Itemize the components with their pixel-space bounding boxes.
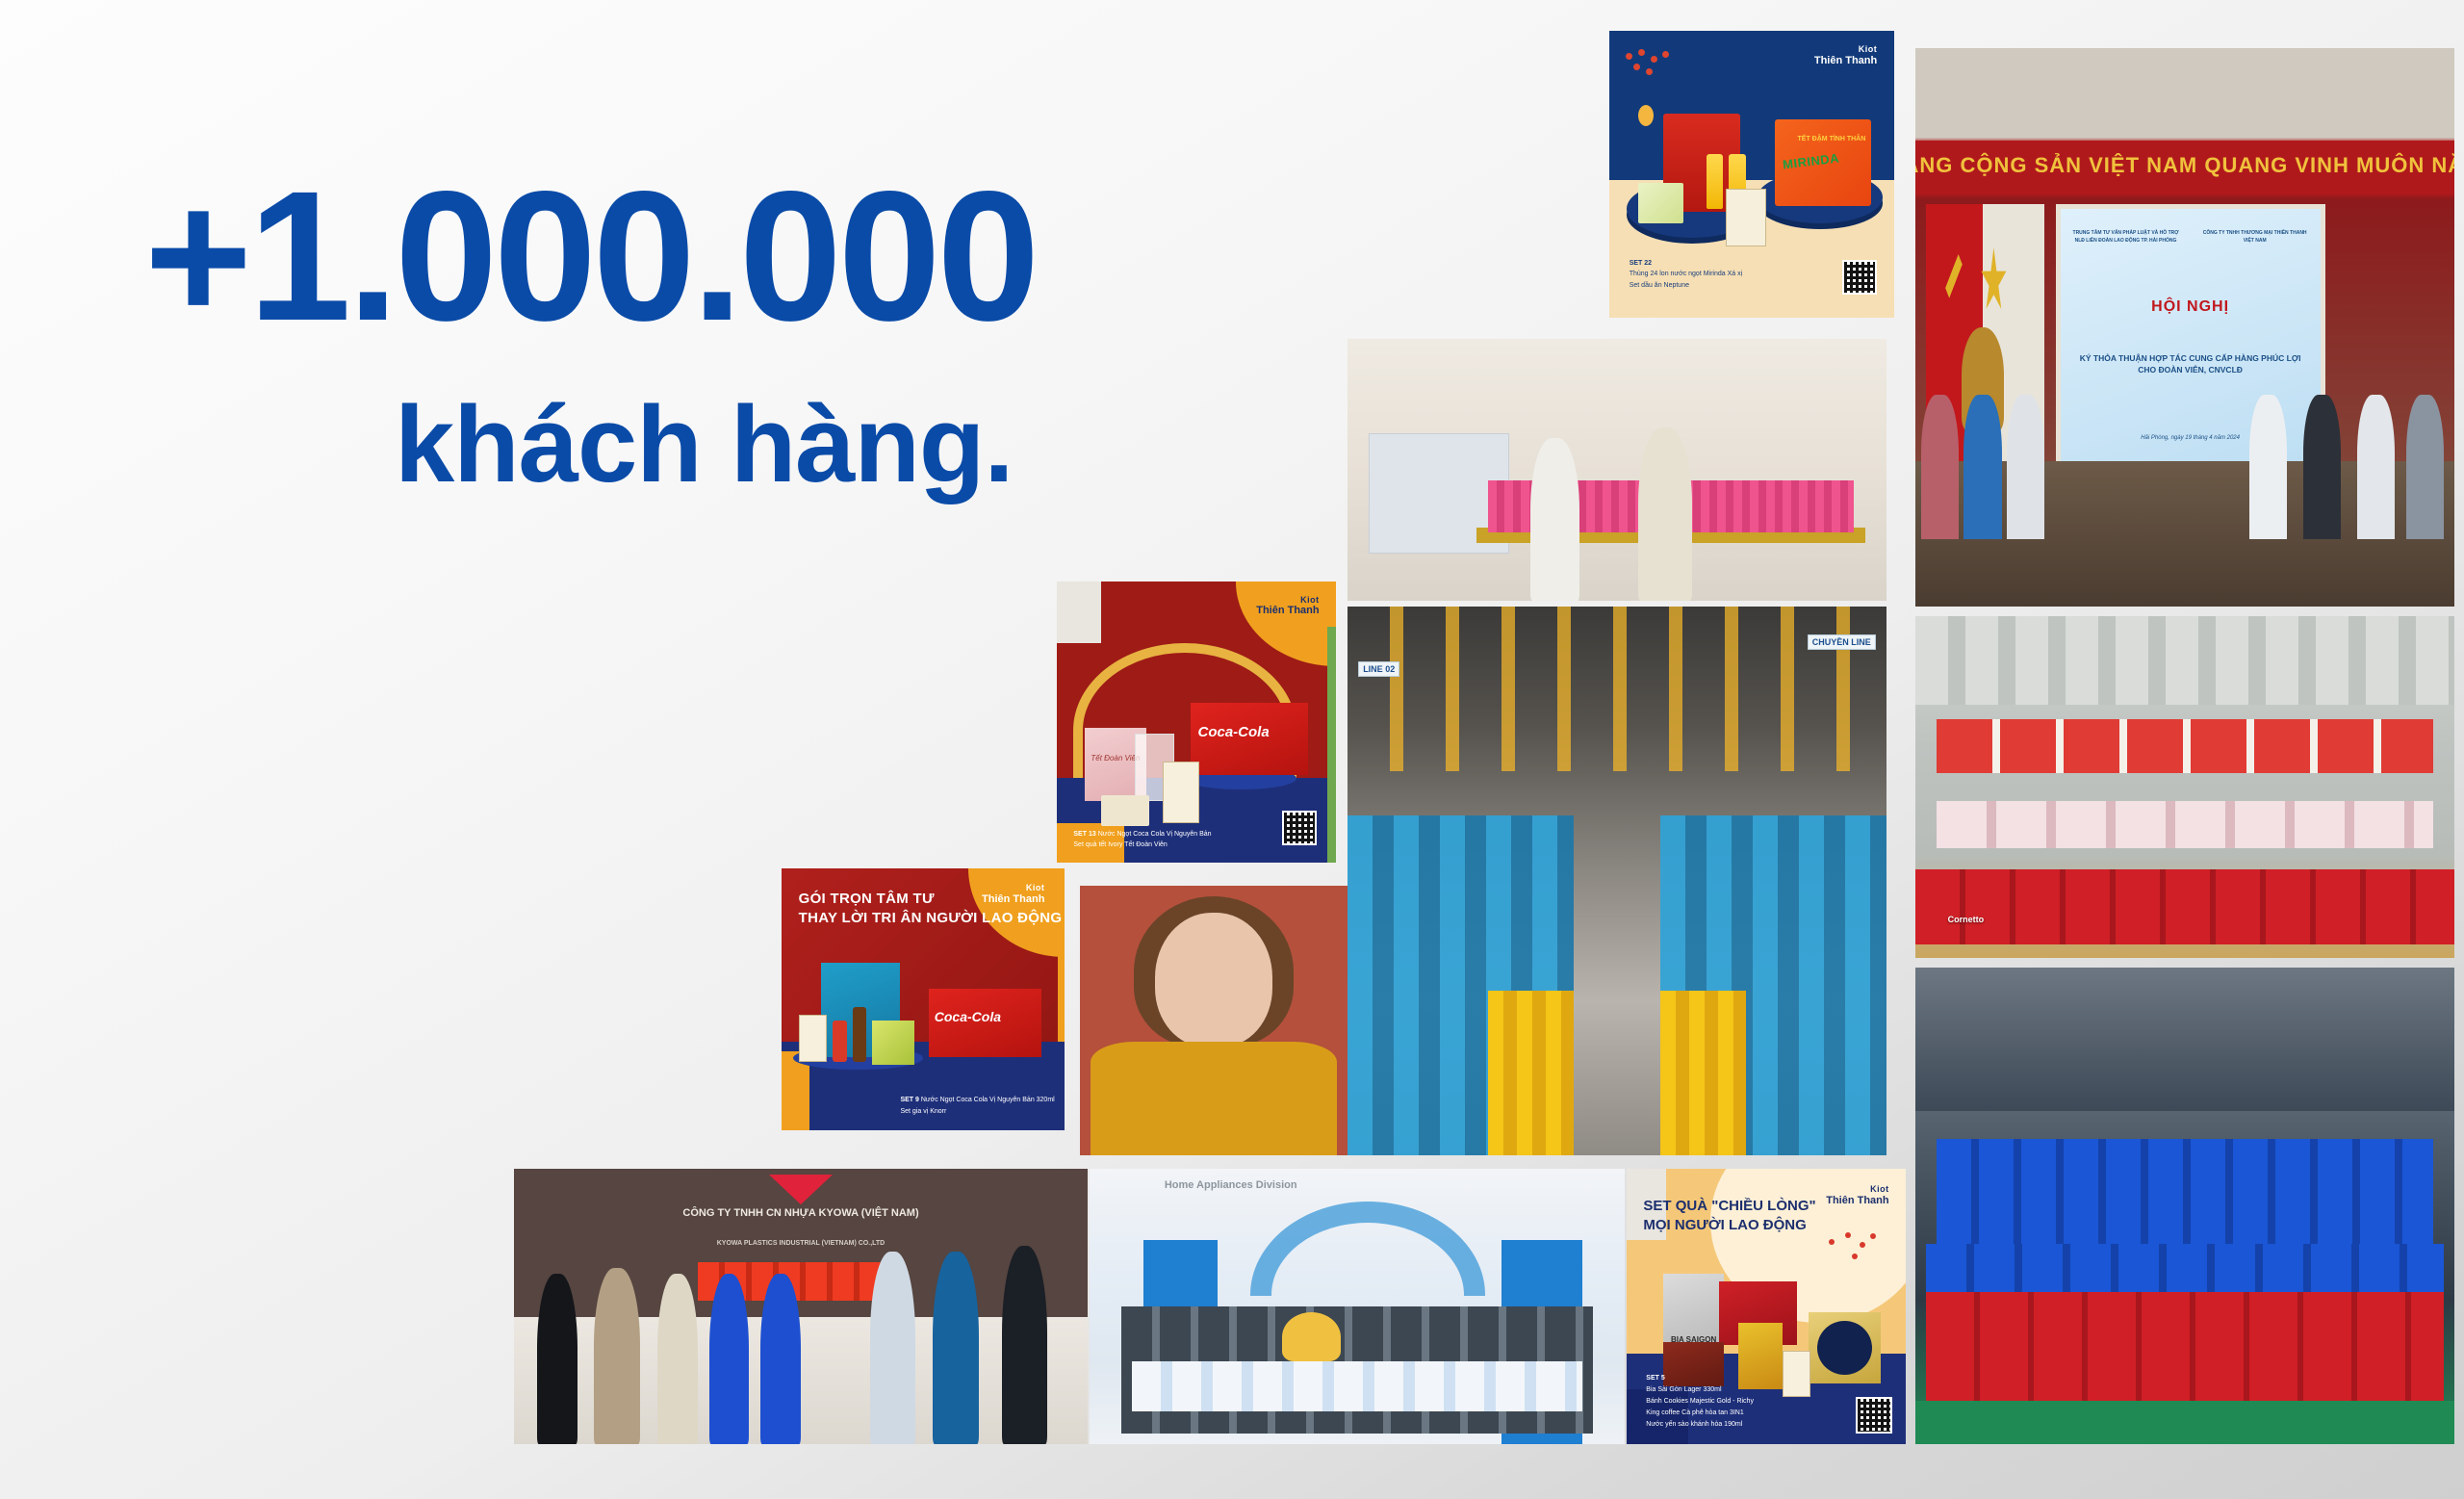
blossom-decor-icon [1822, 1229, 1889, 1279]
held-product-boxes [1937, 719, 2432, 774]
photo-balloon-event[interactable]: Home Appliances Division CHÚC MỪNG NGÀY … [1090, 1169, 1625, 1444]
gift-card-graphic [799, 1015, 827, 1062]
face [1155, 913, 1272, 1047]
poster-goi-tron-tam-tu[interactable]: GÓI TRỌN TÂM TƯ THAY LỜI TRI ÂN NGƯỜI LA… [782, 868, 1065, 1130]
star-icon [1981, 247, 2007, 315]
qr-code-icon[interactable] [1282, 811, 1317, 845]
person [657, 1274, 698, 1444]
photo-collage: MIRINDA TẾT ĐẬM TÌNH THÂN Kiot Thiên Tha… [0, 0, 2464, 1499]
poster-cocacola[interactable]: Coca-Cola Tết Đoàn Viên Kiot Thiên Thanh… [1057, 582, 1336, 863]
product-box-label: MIRINDA [1782, 151, 1839, 172]
poster-caption: SET 22 Thùng 24 lon nước ngọt Mirinda Xá… [1630, 258, 1742, 293]
poster-title: SET QUÀ "CHIỀU LÒNG" MỌI NGƯỜI LAO ĐỘNG [1643, 1197, 1815, 1236]
product-box-slogan: TẾT ĐẬM TÌNH THÂN [1798, 135, 1866, 145]
sauce-bottle-graphic [853, 1007, 867, 1062]
person [933, 1252, 979, 1444]
line-sign-left: LINE 02 [1358, 661, 1399, 677]
photo-conference[interactable]: ĐẢNG CỘNG SẢN VIỆT NAM QUANG VINH MUÔN N… [1915, 48, 2454, 607]
bag-brand-label: Cornetto [1948, 915, 1985, 924]
person [537, 1274, 577, 1444]
poster-corner-accent [1236, 582, 1336, 666]
yellow-coat [1091, 1042, 1337, 1155]
photo-office-gift[interactable] [1347, 339, 1886, 601]
flower-bouquet [1282, 1312, 1341, 1361]
red-tet-gift-bags [1926, 1292, 2444, 1407]
wall-banner: ĐẢNG CỘNG SẢN VIỆT NAM QUANG VINH MUÔN N… [1915, 141, 2454, 191]
person [760, 1274, 801, 1444]
photo-model-yellow-coat[interactable] [1080, 886, 1347, 1155]
food-pack-graphic [1638, 183, 1683, 223]
company-sign-line1: CÔNG TY TNHH CN NHỰA KYOWA (VIỆT NAM) [629, 1207, 973, 1219]
blossom-decor-icon [1624, 48, 1686, 94]
hammer-sickle-icon [1942, 247, 1968, 315]
photo-kyowa[interactable]: CÔNG TY TNHH CN NHỰA KYOWA (VIỆT NAM) KY… [514, 1169, 1088, 1444]
line-sign-right: CHUYỀN LINE [1808, 634, 1876, 650]
photo-cornetto-workers[interactable]: Cornetto [1915, 616, 2454, 958]
poster-mirinda[interactable]: MIRINDA TẾT ĐẬM TÌNH THÂN Kiot Thiên Tha… [1609, 31, 1894, 318]
brand-logo: Kiot Thiên Thanh [1826, 1185, 1888, 1206]
poster-side-strip [1327, 627, 1336, 863]
brand-logo: Kiot Thiên Thanh [1256, 596, 1319, 617]
product-box-label: Coca-Cola [1198, 724, 1270, 740]
factory-ceiling [1915, 968, 2454, 1111]
factory-floor [1915, 1401, 2454, 1444]
product-box-graphic: Coca-Cola [929, 989, 1042, 1057]
brand-logo: Kiot Thiên Thanh [982, 884, 1044, 905]
poster-caption: SET 9 Nước Ngọt Coca Cola Vị Nguyên Bản … [900, 1095, 1054, 1118]
poster-corner [1057, 582, 1101, 643]
yellow-gift-bags-right [1660, 991, 1747, 1155]
red-gift-bags-row [1915, 869, 2454, 944]
product-box-graphic: MIRINDA TẾT ĐẬM TÌNH THÂN [1775, 119, 1872, 205]
person [709, 1274, 750, 1444]
held-product-packs [1937, 801, 2432, 849]
company-sign-line2: KYOWA PLASTICS INDUSTRIAL (VIETNAM) CO.,… [629, 1240, 973, 1247]
poster-caption: SET 13 Nước Ngọt Coca Cola Vị Nguyên Bản… [1073, 829, 1211, 852]
gift-card-graphic [1163, 762, 1199, 823]
qr-code-icon[interactable] [1842, 260, 1877, 295]
sauce-bottle-graphic [833, 1021, 847, 1063]
photo-blue-uniform-workers[interactable] [1915, 968, 2454, 1444]
poster-caption: SET 5 Bia Sài Gòn Lager 330ml Bánh Cooki… [1646, 1373, 1754, 1430]
product-box-graphic: Coca-Cola [1191, 703, 1308, 776]
brand-logo: Kiot Thiên Thanh [1814, 45, 1877, 66]
qr-code-icon[interactable] [1856, 1397, 1892, 1434]
bottle-graphic [1707, 154, 1724, 209]
tin-box-graphic [1101, 795, 1148, 826]
person [1638, 427, 1692, 601]
person [1002, 1246, 1048, 1444]
balloon-arch [1250, 1202, 1486, 1295]
lantern-icon [1638, 105, 1654, 126]
product-box-label: Coca-Cola [935, 1009, 1001, 1024]
screen-subtitle: KÝ THỎA THUẬN HỢP TÁC CUNG CẤP HÀNG PHÚC… [2070, 352, 2309, 376]
white-gift-bags-row [1132, 1361, 1581, 1410]
cookie-tin-graphic [1809, 1312, 1881, 1383]
poster-set-qua-chieu-long[interactable]: SET QUÀ "CHIỀU LÒNG" MỌI NGƯỜI LAO ĐỘNG … [1627, 1169, 1906, 1444]
gift-card-graphic [1726, 189, 1765, 246]
person [870, 1252, 916, 1444]
gift-card-graphic [1783, 1351, 1810, 1398]
person [594, 1268, 640, 1444]
attendees-row [1915, 395, 2454, 540]
photo-factory-queue[interactable]: LINE 02 CHUYỀN LINE [1347, 607, 1886, 1155]
screen-title: HỘI NGHỊ [2061, 298, 2321, 316]
knorr-pack-graphic [872, 1021, 914, 1065]
yellow-gift-bags-left [1488, 991, 1575, 1155]
factory-ceiling [1915, 616, 2454, 705]
person [1530, 438, 1578, 601]
ceiling-lights [1347, 607, 1886, 771]
screen-org-row: TRUNG TÂM TƯ VẤN PHÁP LUẬT VÀ HỖ TRỢ NLĐ… [2070, 230, 2309, 245]
wall-text: Home Appliances Division [1165, 1179, 1297, 1191]
